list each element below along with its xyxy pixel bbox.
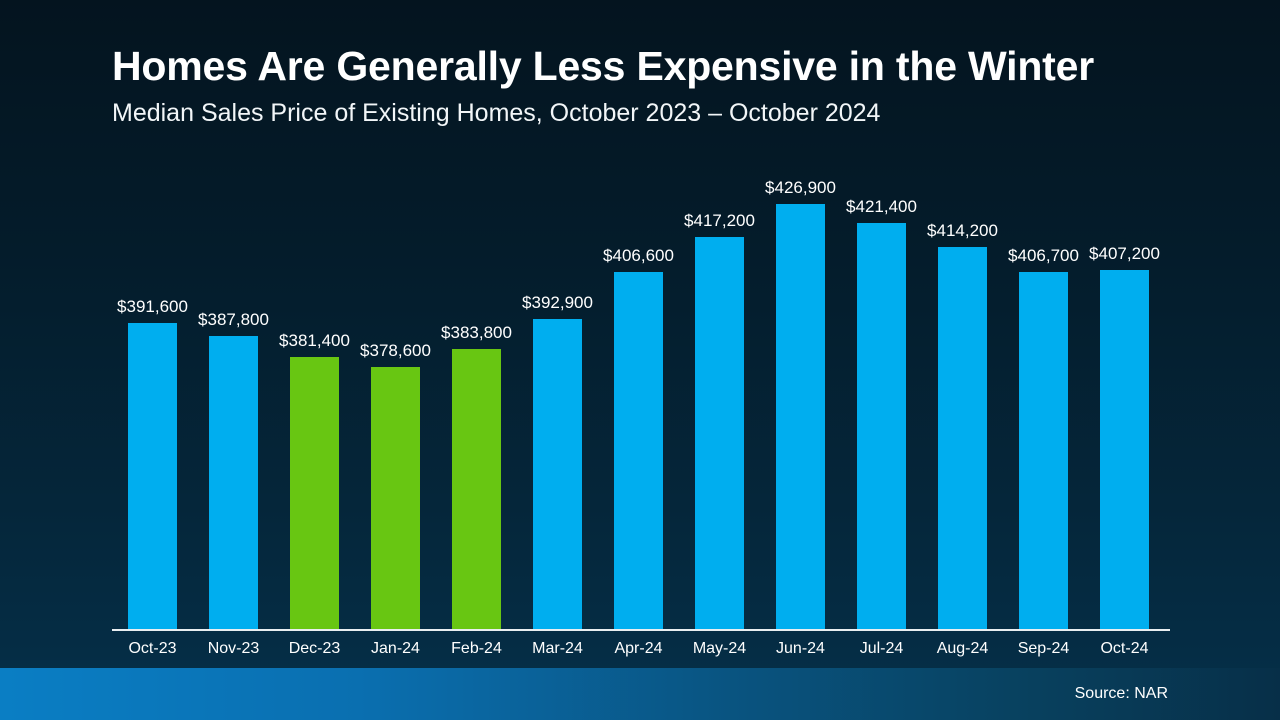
x-axis-tick-mar-24: Mar-24 xyxy=(517,639,598,658)
bar-slot: $406,700 xyxy=(1003,160,1084,629)
bar[interactable] xyxy=(128,323,177,629)
bar-series: $391,600$387,800$381,400$378,600$383,800… xyxy=(112,160,1172,629)
bar-value-label: $387,800 xyxy=(193,311,274,328)
bar[interactable] xyxy=(209,336,258,629)
bar-slot: $387,800 xyxy=(193,160,274,629)
x-axis-tick-jun-24: Jun-24 xyxy=(760,639,841,658)
bar-value-label: $426,900 xyxy=(760,179,841,196)
bar-slot: $417,200 xyxy=(679,160,760,629)
x-axis-tick-nov-23: Nov-23 xyxy=(193,639,274,658)
x-axis-tick-aug-24: Aug-24 xyxy=(922,639,1003,658)
bar[interactable] xyxy=(290,357,339,629)
x-axis-tick-dec-23: Dec-23 xyxy=(274,639,355,658)
chart-plot-area: $391,600$387,800$381,400$378,600$383,800… xyxy=(112,160,1172,631)
bar[interactable] xyxy=(938,247,987,629)
bar-value-label: $414,200 xyxy=(922,222,1003,239)
x-axis-tick-sep-24: Sep-24 xyxy=(1003,639,1084,658)
x-axis-tick-jul-24: Jul-24 xyxy=(841,639,922,658)
bar-value-label: $392,900 xyxy=(517,294,598,311)
chart-subtitle: Median Sales Price of Existing Homes, Oc… xyxy=(112,100,1212,128)
x-axis-line xyxy=(112,629,1170,631)
bar-value-label: $407,200 xyxy=(1084,245,1165,262)
bar-slot: $421,400 xyxy=(841,160,922,629)
bar[interactable] xyxy=(452,349,501,629)
bar-slot: $407,200 xyxy=(1084,160,1165,629)
bar[interactable] xyxy=(614,272,663,629)
bar-slot: $392,900 xyxy=(517,160,598,629)
bar[interactable] xyxy=(695,237,744,629)
bar-slot: $406,600 xyxy=(598,160,679,629)
bar[interactable] xyxy=(857,223,906,629)
bar-value-label: $378,600 xyxy=(355,342,436,359)
bar-value-label: $391,600 xyxy=(112,298,193,315)
bar-value-label: $381,400 xyxy=(274,332,355,349)
bar-slot: $378,600 xyxy=(355,160,436,629)
x-axis-tick-oct-24: Oct-24 xyxy=(1084,639,1165,658)
bar[interactable] xyxy=(1100,270,1149,629)
x-axis-tick-feb-24: Feb-24 xyxy=(436,639,517,658)
x-axis-tick-may-24: May-24 xyxy=(679,639,760,658)
bar-slot: $414,200 xyxy=(922,160,1003,629)
bar[interactable] xyxy=(776,204,825,629)
bar-value-label: $417,200 xyxy=(679,212,760,229)
bar[interactable] xyxy=(1019,272,1068,629)
x-axis-tick-apr-24: Apr-24 xyxy=(598,639,679,658)
bar-value-label: $406,700 xyxy=(1003,247,1084,264)
bar-slot: $383,800 xyxy=(436,160,517,629)
bar-value-label: $421,400 xyxy=(841,198,922,215)
x-axis-tick-labels: Oct-23Nov-23Dec-23Jan-24Feb-24Mar-24Apr-… xyxy=(112,639,1172,665)
chart-header: Homes Are Generally Less Expensive in th… xyxy=(112,44,1212,128)
bar-slot: $381,400 xyxy=(274,160,355,629)
bar-value-label: $406,600 xyxy=(598,247,679,264)
page-title: Homes Are Generally Less Expensive in th… xyxy=(112,44,1212,88)
bar-slot: $391,600 xyxy=(112,160,193,629)
bar-value-label: $383,800 xyxy=(436,324,517,341)
bar-slot: $426,900 xyxy=(760,160,841,629)
bar[interactable] xyxy=(371,367,420,629)
x-axis-tick-jan-24: Jan-24 xyxy=(355,639,436,658)
bar[interactable] xyxy=(533,319,582,629)
x-axis-tick-oct-23: Oct-23 xyxy=(112,639,193,658)
footer-bar: Source: NAR xyxy=(0,668,1280,720)
source-label: Source: NAR xyxy=(1075,685,1168,703)
